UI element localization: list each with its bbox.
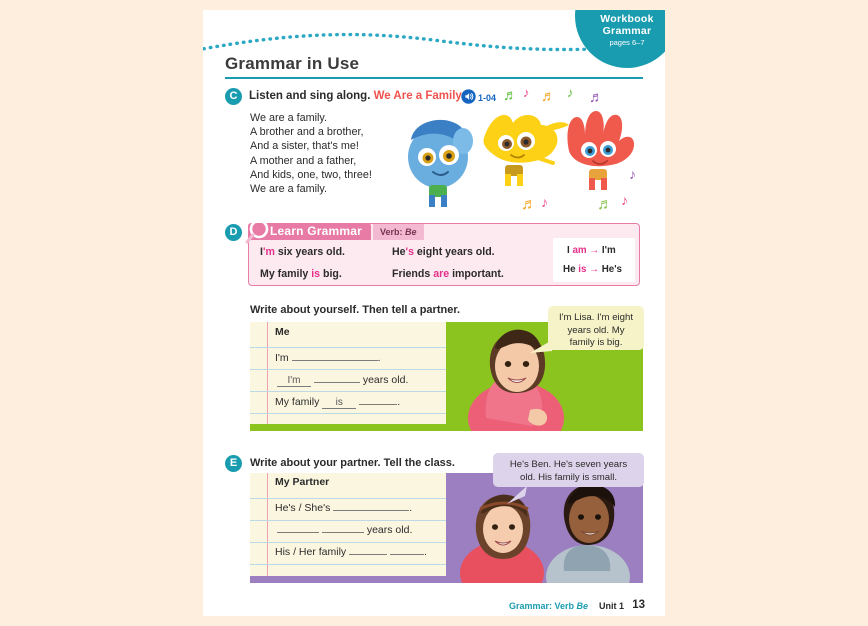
speaker-icon[interactable]: [461, 89, 476, 104]
grammar-sentence-4: Friends are important.: [392, 268, 504, 280]
exercise-badge-c: C: [225, 88, 242, 105]
worksheet-partner-line-3: His / Her family .: [275, 544, 427, 558]
sentence-post: big.: [320, 268, 342, 280]
exercise-e-instruction: Write about your partner. Tell the class…: [250, 457, 455, 469]
worksheet-rule: [250, 498, 446, 499]
note-pink2-icon: ♪: [541, 194, 548, 210]
worksheet-me-heading: Me: [275, 326, 290, 338]
exercise-badge-d: D: [225, 224, 242, 241]
worksheet-rule: [250, 564, 446, 565]
worksheet-bottom-bar: [250, 576, 446, 583]
grammar-sentence-3: He's eight years old.: [392, 246, 495, 258]
page-title: Grammar in Use: [225, 54, 359, 74]
grammar-sentence-2: My family is big.: [260, 268, 342, 280]
note-purple2-icon: ♪: [629, 166, 636, 182]
sentence-highlight: 'm: [263, 246, 275, 258]
note-green2-icon: ♪: [567, 86, 574, 99]
contraction-result: He's: [602, 264, 622, 275]
footer-grammar-text: Grammar: Verb: [509, 601, 574, 611]
blank-field[interactable]: [314, 372, 360, 383]
note-orange-icon: ♬: [541, 89, 556, 104]
lyric-line: And a sister, that's me!: [250, 139, 372, 153]
arrow-icon: →: [589, 264, 599, 275]
contraction-subject: He: [563, 264, 576, 275]
lyric-line: A mother and a father,: [250, 154, 372, 168]
sentence-highlight: is: [311, 268, 320, 280]
lyric-line: And kids, one, two, three!: [250, 168, 372, 182]
verb-label: Verb: Be: [373, 224, 424, 240]
learn-grammar-header: Learn Grammar Verb: Be: [248, 223, 424, 240]
blank-field[interactable]: [349, 544, 387, 555]
worksheet-rule: [250, 542, 446, 543]
blank-field[interactable]: [277, 522, 319, 533]
blank-field[interactable]: [322, 522, 364, 533]
exercise-badge-e: E: [225, 455, 242, 472]
contraction-verb: is: [578, 264, 586, 275]
worksheet-rule: [250, 520, 446, 521]
note-green-icon: ♬: [503, 88, 518, 103]
footer-grammar-label: Grammar: Verb Be: [509, 601, 588, 611]
contraction-subject: I: [567, 245, 570, 256]
blank-field[interactable]: [359, 394, 397, 405]
song-title: We Are a Family: [374, 90, 462, 102]
note-pink3-icon: ♪: [621, 192, 628, 208]
verb-value: Be: [405, 227, 417, 237]
line-suffix: .: [397, 396, 400, 408]
yellow-monster: [484, 115, 570, 186]
worksheet-rule: [250, 347, 446, 348]
sentence-pre: He: [392, 246, 406, 258]
speech-bubble-tail-green: [528, 337, 554, 359]
textbook-page: Workbook Grammar pages 6–7 Grammar in Us…: [203, 10, 665, 616]
verb-label-text: Verb:: [380, 227, 403, 237]
note-pink-icon: ♪: [523, 86, 530, 99]
contraction-row-2: He is → He's: [563, 264, 622, 275]
line-label: His / Her family: [275, 546, 346, 558]
worksheet-rule: [250, 391, 446, 392]
line-label: My family: [275, 396, 319, 408]
contraction-result: I'm: [602, 245, 616, 256]
magnifier-icon: [243, 218, 271, 246]
grammar-sentence-1: I'm six years old.: [260, 246, 345, 258]
note-lime-icon: ♬: [597, 196, 613, 213]
girl-in-red-shirt-photo: [460, 495, 544, 583]
footer-unit: Unit 1: [599, 601, 624, 611]
speech-bubble-tail-purple: [503, 484, 529, 508]
sentence-post: six years old.: [275, 246, 345, 258]
line-suffix: years old.: [367, 524, 413, 536]
note-orange2-icon: ♬: [521, 196, 537, 213]
exercise-d-instruction: Write about yourself. Then tell a partne…: [250, 304, 460, 316]
line-suffix: years old.: [363, 374, 409, 386]
audio-track-number: 1-04: [478, 93, 496, 103]
photo-panel-purple: [446, 473, 643, 583]
sentence-pre: My family: [260, 268, 311, 280]
sentence-pre: Friends: [392, 268, 433, 280]
worksheet-partner-line-2: years old.: [277, 522, 412, 536]
blank-field[interactable]: [333, 500, 409, 511]
worksheet-rule: [250, 413, 446, 414]
badge-line-1: Workbook: [575, 14, 665, 26]
badge-line-2: Grammar: [575, 26, 665, 38]
note-purple-icon: ♬: [589, 90, 604, 105]
filled-answer[interactable]: I'm: [277, 375, 311, 387]
lyric-line: We are a family.: [250, 111, 372, 125]
worksheet-rule: [250, 369, 446, 370]
exercise-c-instruction: Listen and sing along. We Are a Family: [249, 90, 462, 102]
worksheet-partner-line-1: He's / She's .: [275, 500, 412, 514]
worksheet-margin-line: [267, 473, 268, 583]
worksheet-partner-heading: My Partner: [275, 476, 329, 488]
speech-bubble-ben: He's Ben. He's seven years old. His fami…: [493, 453, 644, 487]
footer-grammar-italic: Be: [576, 601, 588, 611]
sentence-post: important.: [449, 268, 504, 280]
song-lyrics: We are a family. A brother and a brother…: [250, 111, 372, 196]
contraction-verb: am: [572, 245, 586, 256]
blue-monster: [408, 120, 473, 207]
badge-pages: pages 6–7: [575, 39, 665, 47]
line-label: He's / She's: [275, 502, 330, 514]
cartoon-characters-illustration: ♬ ♪ ♬ ♪ ♪: [393, 105, 643, 215]
line-suffix: .: [409, 502, 412, 514]
blank-field[interactable]: [390, 544, 424, 555]
lyric-line: A brother and a brother,: [250, 125, 372, 139]
line-label: I'm: [275, 352, 289, 364]
speech-bubble-lisa: I'm Lisa. I'm eight years old. My family…: [548, 306, 644, 350]
blank-field[interactable]: [292, 350, 378, 361]
exercise-c-instruction-text: Listen and sing along.: [249, 90, 370, 102]
line-suffix: .: [424, 546, 427, 558]
red-monster: [567, 111, 634, 190]
worksheet-me-line-2: I'm years old.: [277, 372, 408, 387]
workbook-reference-badge: Workbook Grammar pages 6–7: [575, 10, 665, 68]
contraction-row-1: I am → I'm: [567, 245, 616, 256]
sentence-highlight: are: [433, 268, 449, 280]
title-underline: [225, 77, 643, 79]
partner-photos: [446, 473, 643, 583]
line-suffix: .: [378, 352, 381, 364]
sentence-post: eight years old.: [414, 246, 495, 258]
lyric-line: We are a family.: [250, 182, 372, 196]
boy-in-plaid-shirt-photo: [546, 485, 630, 583]
filled-answer[interactable]: is: [322, 397, 356, 409]
arrow-icon: →: [589, 245, 599, 256]
worksheet-me-line-1: I'm .: [275, 350, 381, 364]
footer-page-number: 13: [632, 599, 645, 611]
worksheet-bottom-bar: [250, 424, 446, 431]
worksheet-me-line-3: My family is .: [275, 394, 400, 409]
sentence-highlight: 's: [406, 246, 414, 258]
